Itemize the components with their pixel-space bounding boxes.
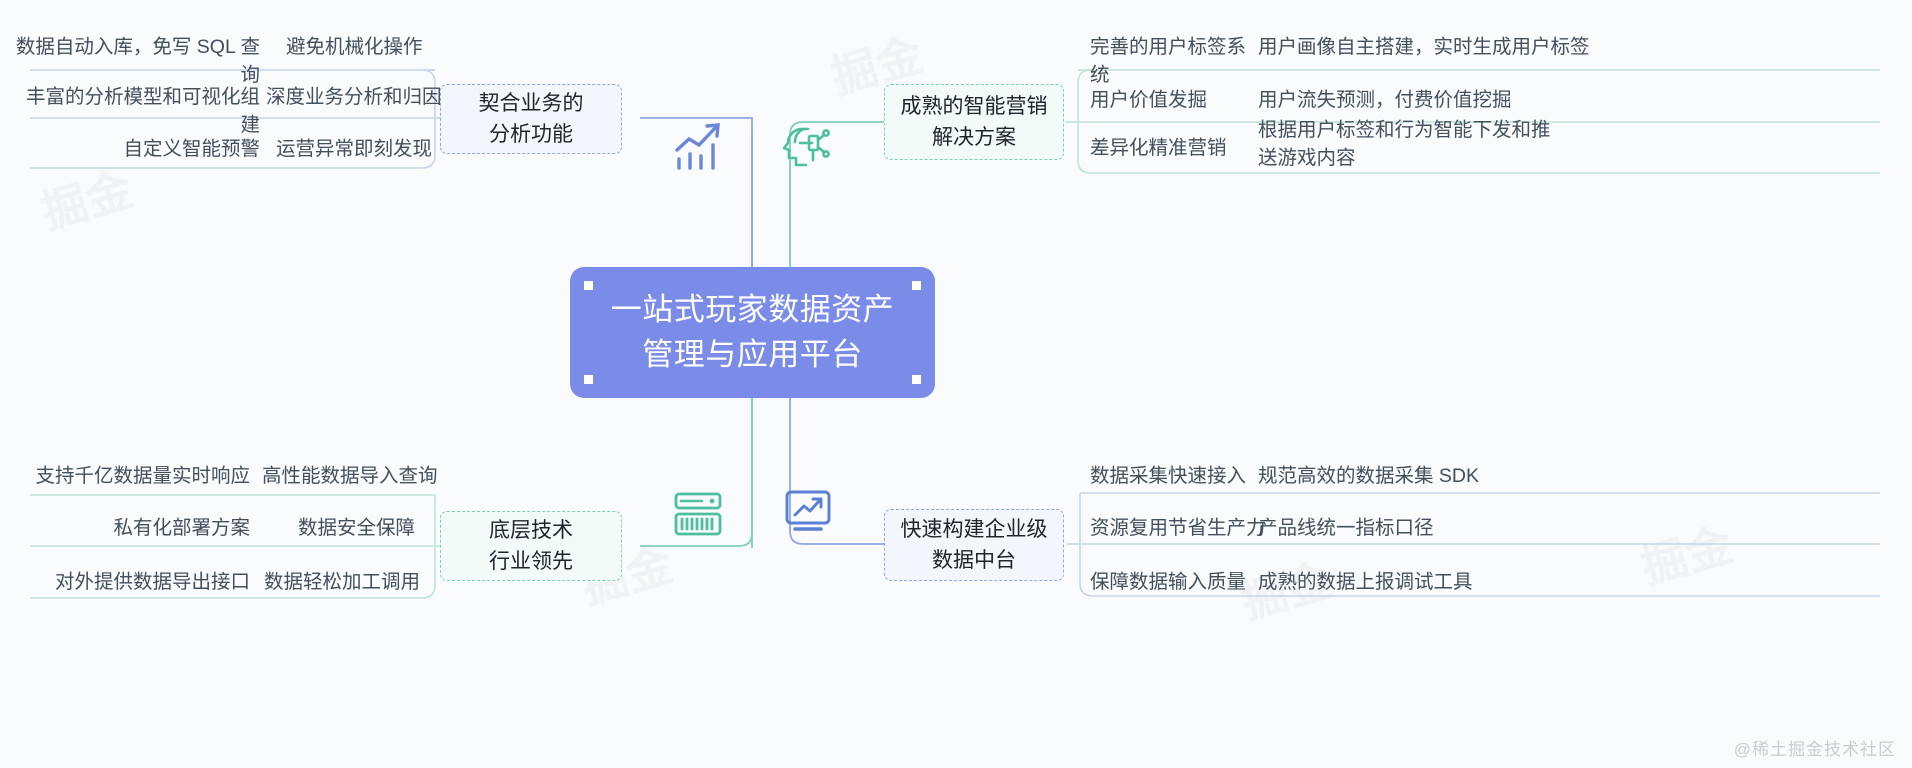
server-rack-icon [672,489,724,544]
leaf-label-left: 丰富的分析模型和可视化组建 [16,83,260,140]
mindmap-canvas[interactable]: 掘金 掘金 掘金 掘金 掘金 [0,0,1912,768]
leaf-label-right: 用户画像自主搭建，实时生成用户标签 [1258,33,1688,61]
ai-brain-icon [782,122,832,175]
background-watermark: 掘金 [33,154,140,243]
root-node[interactable]: 一站式玩家数据资产管理与应用平台 [570,267,935,398]
resize-handle-top-left[interactable] [584,281,593,290]
leaf-label-right: 根据用户标签和行为智能下发和推送游戏内容 [1258,116,1558,173]
branch-node-marketing-line2: 解决方案 [901,122,1048,154]
leaf-label-right: 用户流失预测，付费价值挖掘 [1258,86,1658,114]
leaf-label-left: 自定义智能预警 [60,135,260,163]
branch-node-marketing[interactable]: 成熟的智能营销 解决方案 [884,84,1064,160]
branch-node-tech-line2: 行业领先 [489,546,573,578]
leaf-label-left: 用户价值发掘 [1090,86,1260,114]
leaf-label-left: 完善的用户标签系统 [1090,33,1260,90]
leaf-label-right: 产品线统一指标口径 [1258,514,1558,542]
branch-node-analysis-line1: 契合业务的 [479,88,584,120]
leaf-label-right: 避免机械化操作 [286,33,486,61]
leaf-label-left: 差异化精准营销 [1090,134,1260,162]
resize-handle-top-right[interactable] [912,281,921,290]
bar-chart-trend-icon [672,120,728,177]
root-node-title: 一站式玩家数据资产管理与应用平台 [596,288,909,376]
branch-node-marketing-line1: 成熟的智能营销 [901,91,1048,123]
monitor-trend-icon [782,487,834,542]
leaf-label-right: 高性能数据导入查询 [262,462,472,490]
leaf-label-right: 数据安全保障 [298,514,478,542]
leaf-label-right: 深度业务分析和归因 [266,83,476,111]
background-watermark: 掘金 [1633,509,1740,598]
branch-node-midplatform[interactable]: 快速构建企业级 数据中台 [884,509,1064,581]
leaf-label-left: 对外提供数据导出接口 [30,568,250,596]
branch-node-tech-line1: 底层技术 [489,515,573,547]
resize-handle-bottom-right[interactable] [912,375,921,384]
leaf-label-left: 支持千亿数据量实时响应 [30,462,250,490]
branch-node-midplatform-line1: 快速构建企业级 [901,514,1048,546]
resize-handle-bottom-left[interactable] [584,375,593,384]
leaf-label-left: 资源复用节省生产力 [1090,514,1270,542]
leaf-label-left: 数据采集快速接入 [1090,462,1270,490]
leaf-label-right: 规范高效的数据采集 SDK [1258,462,1588,490]
leaf-label-left: 数据自动入库，免写 SQL 查询 [10,33,260,90]
leaf-label-left: 保障数据输入质量 [1090,568,1270,596]
leaf-label-right: 运营异常即刻发现 [276,135,476,163]
branch-node-midplatform-line2: 数据中台 [901,545,1048,577]
watermark-label: @稀土掘金技术社区 [1734,735,1896,760]
leaf-label-right: 数据轻松加工调用 [264,568,464,596]
branch-node-analysis-line2: 分析功能 [479,119,584,151]
leaf-label-left: 私有化部署方案 [60,514,250,542]
leaf-label-right: 成熟的数据上报调试工具 [1258,568,1588,596]
